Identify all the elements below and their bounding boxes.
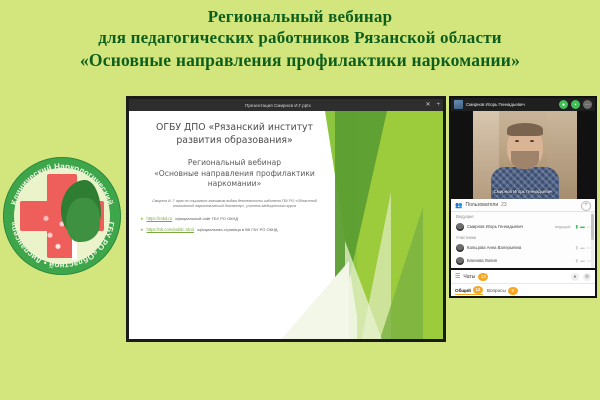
page-title-line-3: «Основные направления профилактики нарко… — [0, 49, 600, 72]
tab-general-badge: 12 — [473, 286, 483, 294]
users-icon: 👥 — [455, 202, 462, 209]
clinic-emblem-logo: Клинический Наркологический ГБУ РО «Обла… — [3, 157, 121, 275]
microphone-icon[interactable]: ▮ — [576, 245, 579, 251]
slide-subtitle-line-1: Региональный вебинар — [141, 158, 328, 169]
chat-header-actions[interactable]: ● ⚙ — [571, 273, 591, 281]
list-item[interactable]: ▸ https://rokd.ru официальный сайт ГБУ Р… — [141, 216, 328, 222]
list-item[interactable]: ▸ https://vk.com/public.rdnd официальная… — [141, 227, 328, 233]
participant-name: Блинова Лилия — [467, 258, 573, 263]
microphone-icon[interactable]: ▮ — [576, 224, 579, 230]
person-icon[interactable]: ● — [571, 273, 579, 281]
chat-panel[interactable]: ☰ Чаты 13 ● ⚙ Общий 12 Вопросы 8 — [449, 268, 597, 298]
list-item[interactable]: Смирнов Игорь Геннадьевич ведущий ▮ ▬ ▭ — [451, 220, 595, 233]
page-title-line-2: для педагогических работников Рязанской … — [0, 27, 600, 49]
more-options-icon[interactable]: ⋯ — [583, 100, 592, 109]
microphone-icon[interactable]: ▮ — [576, 258, 579, 264]
close-icon[interactable]: ✕ — [425, 101, 430, 109]
video-header: Смирнов Игорь Геннадьевич ● ▪ ⋯ — [451, 98, 595, 111]
chat-header[interactable]: ☰ Чаты 13 ● ⚙ — [451, 270, 595, 284]
decor-polygon-7 — [279, 261, 349, 342]
hosts-group-label: Ведущие — [451, 212, 595, 220]
participant-name: Смирнов Игорь Геннадьевич — [467, 224, 552, 229]
tree-crown-highlight-icon — [66, 198, 100, 242]
video-conference-panel[interactable]: Смирнов Игорь Геннадьевич ● ▪ ⋯ Смирнов … — [449, 96, 597, 294]
avatar — [456, 244, 464, 252]
person-hair — [507, 123, 543, 136]
camera-icon[interactable]: ▬ — [580, 258, 585, 263]
decor-polygon-5 — [379, 207, 423, 342]
person-eye-left — [515, 140, 519, 142]
page-title-line-1: Региональный вебинар — [0, 6, 600, 27]
avatar — [456, 223, 464, 231]
slide-subtitle-line-2: «Основные направления профилактики — [141, 169, 328, 180]
participant-role: ведущий — [555, 225, 570, 229]
add-user-button[interactable]: + — [581, 201, 591, 211]
window-controls[interactable]: ✕ + — [425, 101, 440, 109]
list-item[interactable]: Кальцова Анна Валерьевна ▮ ▬ ▭ — [451, 241, 595, 254]
tab-general-label: Общий — [455, 288, 471, 293]
slide-title: ОГБУ ДПО «Рязанский институт развития об… — [141, 121, 328, 147]
slide-content: ОГБУ ДПО «Рязанский институт развития об… — [129, 111, 334, 238]
bullet-icon: ▸ — [141, 228, 144, 233]
microphone-icon[interactable]: ● — [559, 100, 568, 109]
window-tab-title: Презентация Смирнов И.Г.pptx — [245, 103, 311, 108]
avatar — [456, 257, 464, 265]
page-title: Региональный вебинар для педагогических … — [0, 6, 600, 72]
presenter-name: Смирнов Игорь Геннадьевич — [466, 102, 525, 107]
scrollbar[interactable] — [591, 212, 594, 276]
list-item[interactable]: Блинова Лилия ▮ ▬ ▭ — [451, 254, 595, 267]
bullet-icon: ▸ — [141, 217, 144, 222]
person-eye-right — [530, 140, 534, 142]
camera-icon[interactable]: ▬ — [580, 224, 585, 229]
participants-title: Пользователи — [465, 202, 498, 208]
participants-count: 23 — [501, 202, 507, 208]
tab-questions[interactable]: Вопросы 8 — [487, 287, 518, 295]
webcam-feed — [473, 111, 577, 199]
slide-link-desc: официальный сайт ГБУ РО ОКНД — [175, 216, 238, 221]
avatar — [454, 100, 463, 109]
gear-icon[interactable]: ⚙ — [583, 273, 591, 281]
logo-inner-disc — [14, 168, 110, 264]
presentation-window[interactable]: Презентация Смирнов И.Г.pptx ✕ + ОГБУ ДП… — [126, 96, 446, 342]
participant-controls[interactable]: ▮ ▬ ▭ — [576, 258, 591, 264]
slide-link-url[interactable]: https://vk.com/public.rdnd — [147, 227, 194, 232]
slide-link-desc: официальная страница в ВК ГБУ РО ОКНД — [197, 227, 278, 232]
slide-author-note: Смирнов И. Г. врач по социально-значимым… — [141, 199, 328, 210]
tab-questions-label: Вопросы — [487, 288, 506, 293]
slide-subtitle-line-3: наркомании» — [141, 179, 328, 190]
slide-links: ▸ https://rokd.ru официальный сайт ГБУ Р… — [141, 216, 328, 233]
window-titlebar[interactable]: Презентация Смирнов И.Г.pptx ✕ + — [129, 99, 443, 111]
video-controls[interactable]: ● ▪ ⋯ — [559, 100, 592, 109]
tab-questions-badge: 8 — [508, 287, 518, 295]
participant-controls[interactable]: ▮ ▬ ▭ — [576, 245, 591, 251]
participants-header: 👥 Пользователи 23 + — [451, 199, 595, 212]
slide-subtitle: Региональный вебинар «Основные направлен… — [141, 158, 328, 190]
participant-controls[interactable]: ▮ ▬ ▭ — [576, 224, 591, 230]
slide-canvas: ОГБУ ДПО «Рязанский институт развития об… — [129, 111, 443, 342]
slide-link-url[interactable]: https://rokd.ru — [147, 216, 173, 221]
person-shirt — [491, 167, 559, 199]
video-stage[interactable]: Смирнов Игорь Геннадьевич — [451, 111, 595, 199]
chat-title: Чаты — [463, 274, 475, 280]
chat-badge: 13 — [478, 273, 488, 281]
camera-icon[interactable]: ▪ — [571, 100, 580, 109]
participants-group-label: Участники — [451, 233, 595, 241]
person-beard — [511, 151, 539, 169]
tab-general[interactable]: Общий 12 — [455, 286, 483, 295]
chat-tabs[interactable]: Общий 12 Вопросы 8 — [451, 284, 595, 297]
decor-polygon-6 — [345, 241, 383, 342]
new-tab-icon[interactable]: + — [436, 101, 440, 109]
camera-icon[interactable]: ▬ — [580, 245, 585, 250]
participant-name: Кальцова Анна Валерьевна — [467, 245, 573, 250]
video-caption: Смирнов Игорь Геннадьевич — [451, 189, 595, 194]
burger-menu-icon[interactable]: ☰ — [455, 273, 460, 280]
